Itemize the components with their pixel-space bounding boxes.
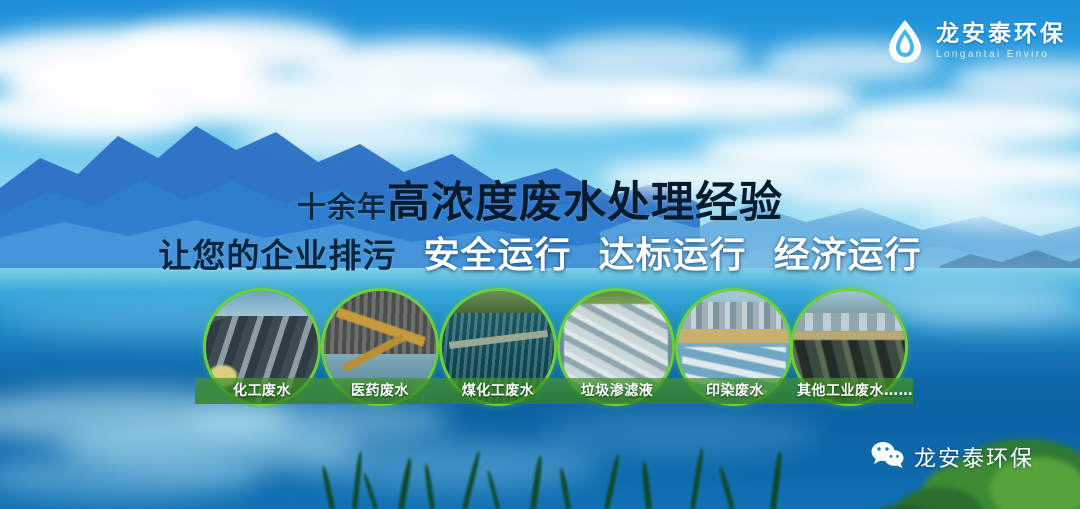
category-label-coal-chemical: 煤化工废水	[432, 379, 564, 403]
wechat-account[interactable]: 龙安泰环保	[871, 441, 1034, 473]
category-label-pharmaceutical: 医药废水	[316, 379, 444, 403]
category-label-other-industrial: 其他工业废水……	[782, 379, 928, 403]
category-label-landfill-leachate: 垃圾渗滤液	[552, 379, 682, 403]
promo-banner: 龙安泰环保 Longantai Enviro 十余年高浓度废水处理经验 让您的企…	[0, 0, 1080, 509]
wechat-icon	[871, 441, 905, 473]
category-strip: 化工废水 医药废水 煤化工废水 垃圾渗滤液 印染废水 其他工业废水……	[0, 0, 1080, 509]
wechat-account-name: 龙安泰环保	[914, 441, 1034, 473]
category-label-dyeing: 印染废水	[672, 379, 798, 403]
category-label-chemical: 化工废水	[198, 379, 326, 403]
